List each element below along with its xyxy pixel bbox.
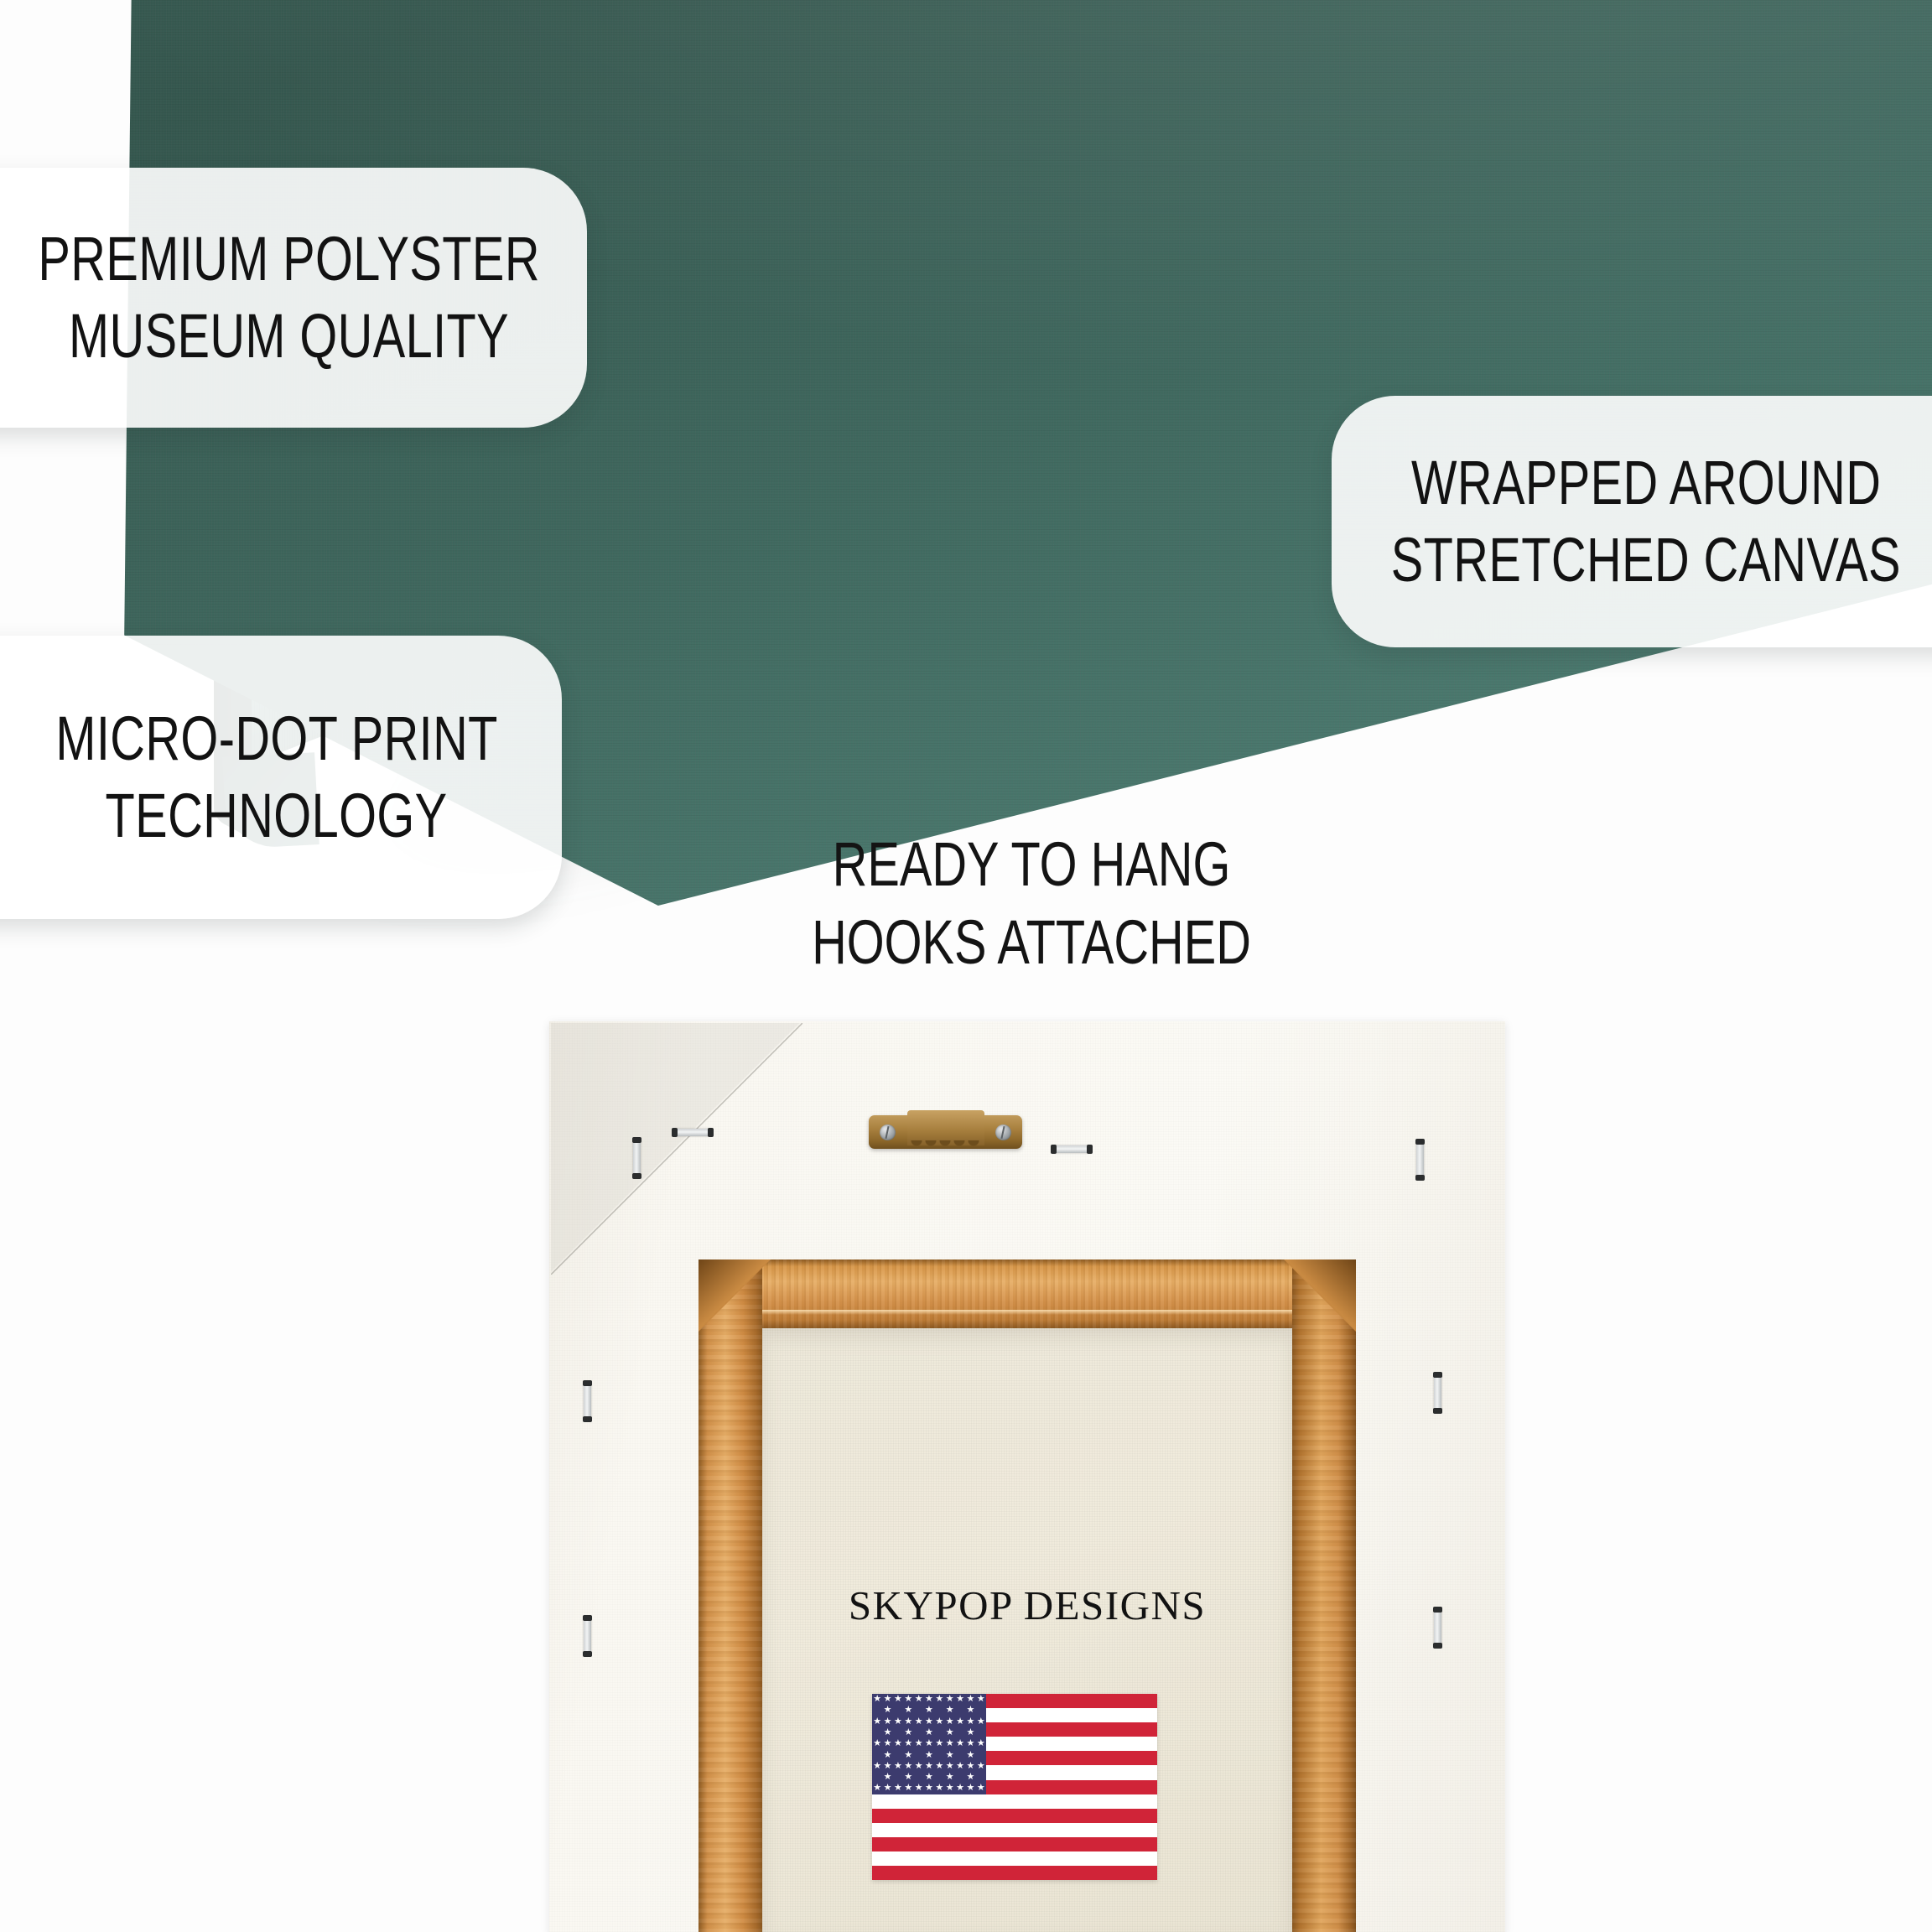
- canvas-corner-fold-crease: [551, 1023, 802, 1275]
- hanger-screw-left: [880, 1124, 896, 1140]
- stretcher-bar-top-highlight: [699, 1310, 1356, 1315]
- staple: [1434, 1608, 1441, 1647]
- staple: [673, 1129, 712, 1136]
- canvas-back-view: SKYPOP DESIGNS ★★★★★★★★★★★ ★★★★★ ★★★★★★★…: [549, 1021, 1505, 1932]
- feature-line-2: HOOKS ATTACHED: [802, 904, 1260, 982]
- flag-stars: ★★★★★★★★★★★ ★★★★★ ★★★★★★★★★★★ ★★★★★ ★★★★…: [872, 1694, 986, 1794]
- staple: [1416, 1140, 1424, 1179]
- feature-line-1: READY TO HANG: [802, 826, 1260, 904]
- staple: [1434, 1374, 1441, 1412]
- feature-pill-premium-polyster: PREMIUM POLYSTER MUSEUM QUALITY: [0, 168, 587, 428]
- sawtooth-hanger-icon: [869, 1110, 1022, 1154]
- feature-text-ready-to-hang: READY TO HANG HOOKS ATTACHED: [738, 826, 1325, 981]
- feature-pill-micro-dot-print: MICRO-DOT PRINT TECHNOLOGY: [0, 636, 562, 919]
- stretcher-bar-right: [1292, 1259, 1356, 1932]
- feature-line-1: PREMIUM POLYSTER: [39, 221, 540, 298]
- staple: [584, 1382, 591, 1420]
- product-infographic: PREMIUM POLYSTER MUSEUM QUALITY WRAPPED …: [0, 0, 1932, 1932]
- feature-line-1: MICRO-DOT PRINT: [55, 700, 497, 777]
- hanger-teeth: [911, 1140, 983, 1152]
- united-states-flag-icon: ★★★★★★★★★★★ ★★★★★ ★★★★★★★★★★★ ★★★★★ ★★★★…: [872, 1694, 1157, 1880]
- feature-line-2: MUSEUM QUALITY: [69, 298, 509, 375]
- stretcher-bar-top: [699, 1259, 1356, 1328]
- feature-line-2: STRETCHED CANVAS: [1391, 522, 1901, 599]
- feature-line-2: TECHNOLOGY: [106, 777, 448, 854]
- hanger-screw-right: [995, 1124, 1011, 1140]
- staple: [1052, 1145, 1091, 1153]
- feature-line-1: WRAPPED AROUND: [1411, 444, 1881, 522]
- brand-name: SKYPOP DESIGNS: [762, 1581, 1292, 1629]
- stretcher-bar-left: [699, 1259, 762, 1932]
- staple: [584, 1617, 591, 1655]
- feature-pill-wrapped-around: WRAPPED AROUND STRETCHED CANVAS: [1332, 396, 1932, 647]
- staple: [633, 1139, 641, 1177]
